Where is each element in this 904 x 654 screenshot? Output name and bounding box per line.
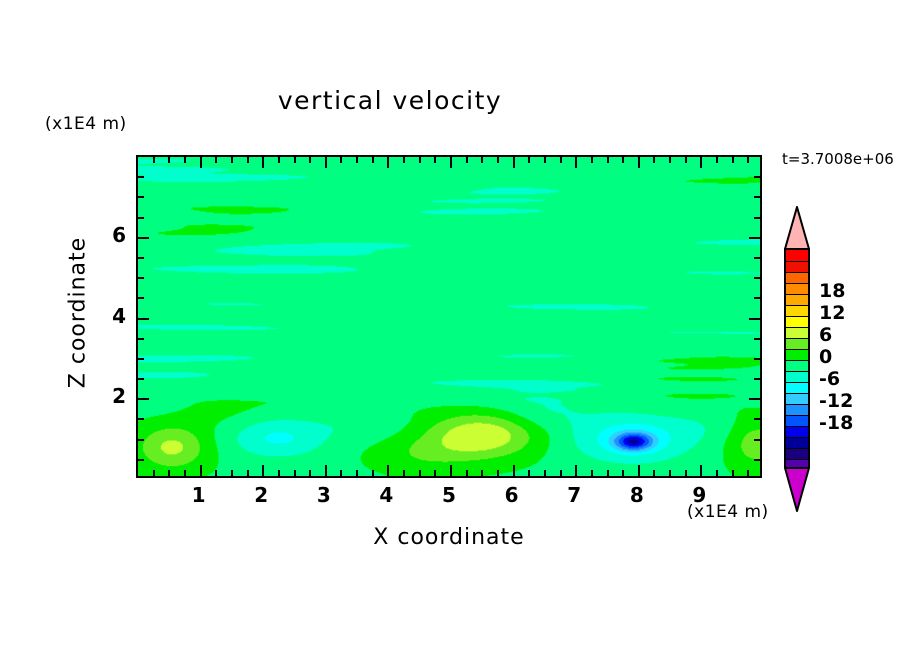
x-tick-top bbox=[403, 157, 405, 163]
x-tick bbox=[403, 470, 405, 476]
colorbar-tick-label: 0 bbox=[819, 346, 832, 368]
x-tick-label: 7 bbox=[554, 483, 594, 507]
x-tick bbox=[700, 465, 702, 476]
x-tick bbox=[685, 470, 687, 476]
y-tick-right bbox=[754, 217, 760, 219]
colorbar-band bbox=[786, 338, 808, 350]
x-tick bbox=[622, 470, 624, 476]
colorbar-band-separator bbox=[786, 448, 808, 449]
y-tick-label: 6 bbox=[96, 223, 126, 247]
y-tick bbox=[138, 217, 144, 219]
x-tick-top bbox=[700, 157, 702, 168]
x-tick-top bbox=[497, 157, 499, 163]
x-tick bbox=[607, 470, 609, 476]
colorbar-band bbox=[786, 393, 808, 405]
y-tick-right bbox=[754, 257, 760, 259]
y-tick-right bbox=[754, 378, 760, 380]
colorbar-band-separator bbox=[786, 371, 808, 372]
y-tick-right bbox=[754, 297, 760, 299]
x-tick-top bbox=[419, 157, 421, 163]
x-tick bbox=[309, 470, 311, 476]
y-tick bbox=[138, 237, 149, 239]
x-tick-top bbox=[153, 157, 155, 163]
y-tick-right bbox=[754, 277, 760, 279]
x-tick bbox=[387, 465, 389, 476]
y-tick-label: 4 bbox=[96, 304, 126, 328]
x-tick bbox=[340, 470, 342, 476]
colorbar-band bbox=[786, 294, 808, 306]
x-tick bbox=[575, 465, 577, 476]
colorbar-band-separator bbox=[786, 426, 808, 427]
x-tick-top bbox=[168, 157, 170, 163]
x-tick-top bbox=[732, 157, 734, 163]
colorbar-band-separator bbox=[786, 393, 808, 394]
colorbar-tick-label: 6 bbox=[819, 324, 832, 346]
x-tick bbox=[168, 470, 170, 476]
x-tick bbox=[419, 470, 421, 476]
x-tick bbox=[200, 465, 202, 476]
x-tick-top bbox=[231, 157, 233, 163]
x-tick bbox=[325, 465, 327, 476]
y-tick-right bbox=[749, 398, 760, 400]
x-tick-top bbox=[466, 157, 468, 163]
x-tick bbox=[450, 465, 452, 476]
colorbar-band-separator bbox=[786, 415, 808, 416]
colorbar-band-separator bbox=[786, 404, 808, 405]
x-tick-top bbox=[325, 157, 327, 168]
x-tick-top bbox=[294, 157, 296, 163]
y-tick-right bbox=[754, 439, 760, 441]
colorbar-band bbox=[786, 327, 808, 339]
colorbar-band-separator bbox=[786, 327, 808, 328]
colorbar-band-separator bbox=[786, 305, 808, 306]
page-title: vertical velocity bbox=[0, 86, 780, 115]
colorbar-band bbox=[786, 250, 808, 262]
x-tick-label: 1 bbox=[179, 483, 219, 507]
x-tick-top bbox=[247, 157, 249, 163]
x-tick bbox=[669, 470, 671, 476]
y-tick-right bbox=[754, 459, 760, 461]
colorbar-band-separator bbox=[786, 272, 808, 273]
x-tick bbox=[544, 470, 546, 476]
y-tick-right bbox=[754, 418, 760, 420]
y-tick bbox=[138, 257, 144, 259]
x-tick-top bbox=[340, 157, 342, 163]
x-tick-top bbox=[356, 157, 358, 163]
x-tick-top bbox=[513, 157, 515, 168]
x-tick bbox=[732, 470, 734, 476]
x-tick bbox=[497, 470, 499, 476]
colorbar-band-separator bbox=[786, 437, 808, 438]
x-tick bbox=[247, 470, 249, 476]
x-tick bbox=[638, 465, 640, 476]
y-tick bbox=[138, 358, 144, 360]
y-tick-right bbox=[754, 176, 760, 178]
x-tick-top bbox=[434, 157, 436, 163]
y-axis-title: Z coordinate bbox=[66, 213, 91, 413]
y-axis-unit-label: (x1E4 m) bbox=[45, 114, 127, 134]
x-tick bbox=[294, 470, 296, 476]
colorbar-band bbox=[786, 404, 808, 416]
x-tick bbox=[215, 470, 217, 476]
y-tick bbox=[138, 318, 149, 320]
y-tick bbox=[138, 196, 144, 198]
y-tick bbox=[138, 176, 144, 178]
colorbar-tick-label: -18 bbox=[819, 412, 853, 434]
x-tick bbox=[747, 470, 749, 476]
time-annotation: t=3.7008e+06 bbox=[782, 150, 894, 168]
colorbar-band bbox=[786, 316, 808, 328]
contour-field-canvas bbox=[138, 157, 760, 476]
colorbar-tick-label: -6 bbox=[819, 368, 840, 390]
colorbar: 181260-6-12-18 bbox=[781, 208, 901, 513]
colorbar-band-separator bbox=[786, 360, 808, 361]
x-tick bbox=[528, 470, 530, 476]
x-tick bbox=[481, 470, 483, 476]
x-tick-label: 5 bbox=[429, 483, 469, 507]
colorbar-band-separator bbox=[786, 261, 808, 262]
colorbar-bands bbox=[784, 248, 810, 468]
colorbar-tick-label: 12 bbox=[819, 302, 845, 324]
y-tick bbox=[138, 297, 144, 299]
colorbar-tick-label: -12 bbox=[819, 390, 853, 412]
x-tick-top bbox=[372, 157, 374, 163]
colorbar-band bbox=[786, 415, 808, 427]
x-tick-label: 4 bbox=[366, 483, 406, 507]
colorbar-band-separator bbox=[786, 459, 808, 460]
x-tick-label: 8 bbox=[617, 483, 657, 507]
colorbar-band bbox=[786, 437, 808, 449]
x-tick bbox=[591, 470, 593, 476]
colorbar-band-separator bbox=[786, 338, 808, 339]
colorbar-band bbox=[786, 349, 808, 361]
x-tick-top bbox=[638, 157, 640, 168]
colorbar-band-separator bbox=[786, 294, 808, 295]
y-tick bbox=[138, 398, 149, 400]
y-tick-right bbox=[749, 318, 760, 320]
x-tick bbox=[153, 470, 155, 476]
colorbar-band bbox=[786, 272, 808, 284]
y-tick-right bbox=[754, 196, 760, 198]
contour-plot-area bbox=[136, 155, 762, 478]
colorbar-band bbox=[786, 448, 808, 460]
x-tick-top bbox=[607, 157, 609, 163]
x-tick bbox=[560, 470, 562, 476]
x-tick bbox=[716, 470, 718, 476]
y-tick bbox=[138, 459, 144, 461]
x-tick-top bbox=[200, 157, 202, 168]
x-tick-label: 6 bbox=[492, 483, 532, 507]
colorbar-band bbox=[786, 371, 808, 383]
x-tick-top bbox=[747, 157, 749, 163]
colorbar-band bbox=[786, 261, 808, 273]
x-tick bbox=[184, 470, 186, 476]
x-tick-top bbox=[278, 157, 280, 163]
x-axis-title: X coordinate bbox=[136, 525, 762, 550]
x-tick bbox=[653, 470, 655, 476]
x-tick-label: 9 bbox=[679, 483, 719, 507]
x-tick-top bbox=[309, 157, 311, 163]
y-tick bbox=[138, 378, 144, 380]
x-tick-top bbox=[544, 157, 546, 163]
colorbar-band-separator bbox=[786, 283, 808, 284]
x-tick-top bbox=[716, 157, 718, 163]
x-tick-top bbox=[528, 157, 530, 163]
x-tick-top bbox=[591, 157, 593, 163]
colorbar-tick-label: 18 bbox=[819, 280, 845, 302]
colorbar-band bbox=[786, 382, 808, 394]
y-tick bbox=[138, 418, 144, 420]
colorbar-band bbox=[786, 360, 808, 372]
colorbar-band bbox=[786, 426, 808, 438]
x-tick-top bbox=[575, 157, 577, 168]
x-tick-top bbox=[184, 157, 186, 163]
y-tick-label: 2 bbox=[96, 384, 126, 408]
y-tick-right bbox=[754, 338, 760, 340]
x-tick-top bbox=[450, 157, 452, 168]
colorbar-band-separator bbox=[786, 349, 808, 350]
y-tick bbox=[138, 338, 144, 340]
x-tick-label: 2 bbox=[241, 483, 281, 507]
colorbar-band-separator bbox=[786, 382, 808, 383]
x-tick-top bbox=[685, 157, 687, 163]
x-tick-top bbox=[669, 157, 671, 163]
y-tick bbox=[138, 439, 144, 441]
x-tick-top bbox=[481, 157, 483, 163]
x-tick-label: 3 bbox=[304, 483, 344, 507]
colorbar-under-arrow-icon bbox=[784, 466, 810, 512]
x-tick-top bbox=[653, 157, 655, 163]
x-tick bbox=[262, 465, 264, 476]
x-tick-top bbox=[622, 157, 624, 163]
x-tick bbox=[231, 470, 233, 476]
y-tick-right bbox=[749, 237, 760, 239]
y-tick bbox=[138, 277, 144, 279]
x-tick bbox=[372, 470, 374, 476]
colorbar-band bbox=[786, 305, 808, 317]
colorbar-band-separator bbox=[786, 316, 808, 317]
colorbar-over-arrow-icon bbox=[784, 206, 810, 250]
x-tick-top bbox=[387, 157, 389, 168]
x-tick-top bbox=[262, 157, 264, 168]
x-tick-top bbox=[215, 157, 217, 163]
x-tick bbox=[513, 465, 515, 476]
x-tick bbox=[356, 470, 358, 476]
colorbar-band bbox=[786, 283, 808, 295]
x-tick-top bbox=[560, 157, 562, 163]
x-tick bbox=[434, 470, 436, 476]
x-tick bbox=[466, 470, 468, 476]
x-tick bbox=[278, 470, 280, 476]
y-tick-right bbox=[754, 358, 760, 360]
